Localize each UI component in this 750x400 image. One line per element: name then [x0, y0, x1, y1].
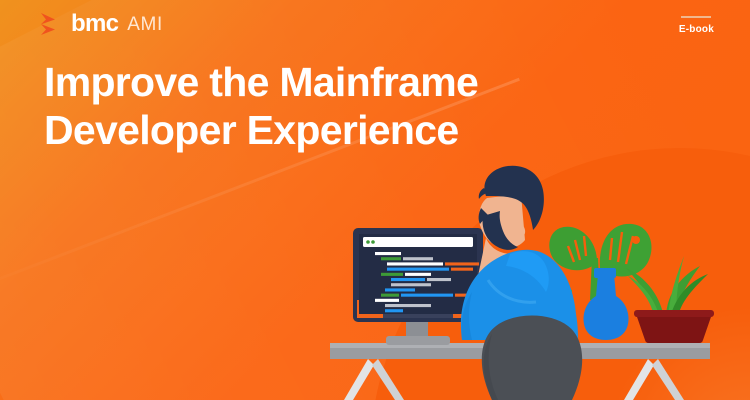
office-chair — [482, 316, 582, 400]
blue-vase — [584, 268, 629, 340]
page-title: Improve the Mainframe Developer Experien… — [44, 58, 604, 155]
logo-product-text: AMI — [127, 15, 163, 34]
headline-line-2: Developer Experience — [44, 106, 604, 154]
badge-label: E-book — [679, 24, 714, 35]
logo-brand-text: bmc — [71, 12, 118, 36]
hero-banner: bmc AMI E-book Improve the Mainframe Dev… — [0, 0, 750, 400]
headline-line-1: Improve the Mainframe — [44, 58, 604, 106]
bmc-chevron-logo-icon — [40, 12, 62, 36]
badge-rule — [681, 16, 711, 18]
bmc-ami-logo[interactable]: bmc AMI — [40, 12, 163, 36]
ebook-badge: E-book — [679, 16, 714, 35]
